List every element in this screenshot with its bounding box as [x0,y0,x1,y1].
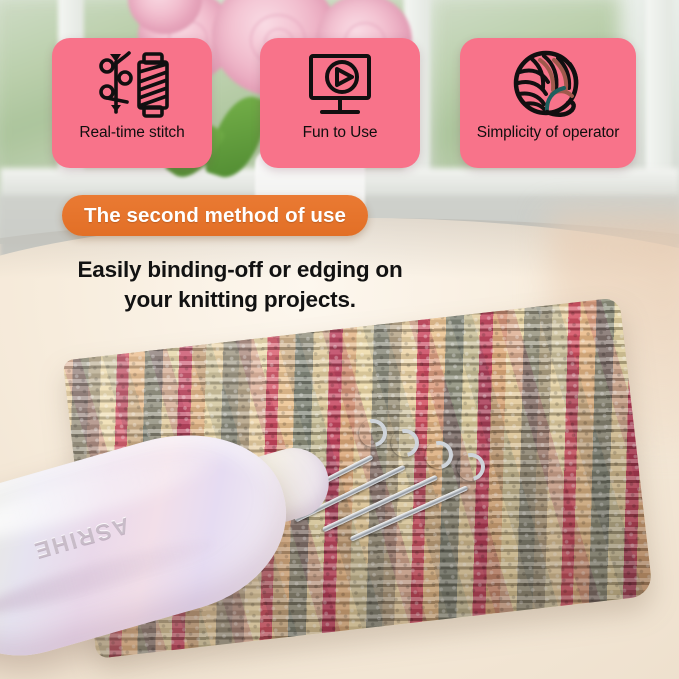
page-title: Easily binding-off or edging on your kni… [40,255,440,315]
badge-label: Simplicity of operator [477,124,620,142]
hook-tip [420,436,459,475]
hook-tip [452,448,491,487]
badge-real-time-stitch[interactable]: Real-time stitch [52,38,212,168]
headline-line-1: Easily binding-off or edging on [40,255,440,285]
hook-tip [386,424,425,463]
headline-line-2: your knitting projects. [40,285,440,315]
badge-label: Real-time stitch [79,124,184,142]
yarn-ball-icon [510,47,586,125]
hook-tip [354,414,393,453]
section-banner: The second method of use [62,195,368,236]
product-infographic: ASRIHE [0,0,679,679]
badge-simplicity-of-operator[interactable]: Simplicity of operator [460,38,636,168]
needle-and-thread-spool-icon [94,47,170,125]
badge-fun-to-use[interactable]: Fun to Use [260,38,420,168]
feature-badge-row: Real-time stitch Fun to Use [0,0,679,200]
monitor-play-video-icon [302,47,378,125]
hook-shaft [350,485,469,542]
section-banner-text: The second method of use [84,204,346,228]
badge-label: Fun to Use [303,124,378,142]
